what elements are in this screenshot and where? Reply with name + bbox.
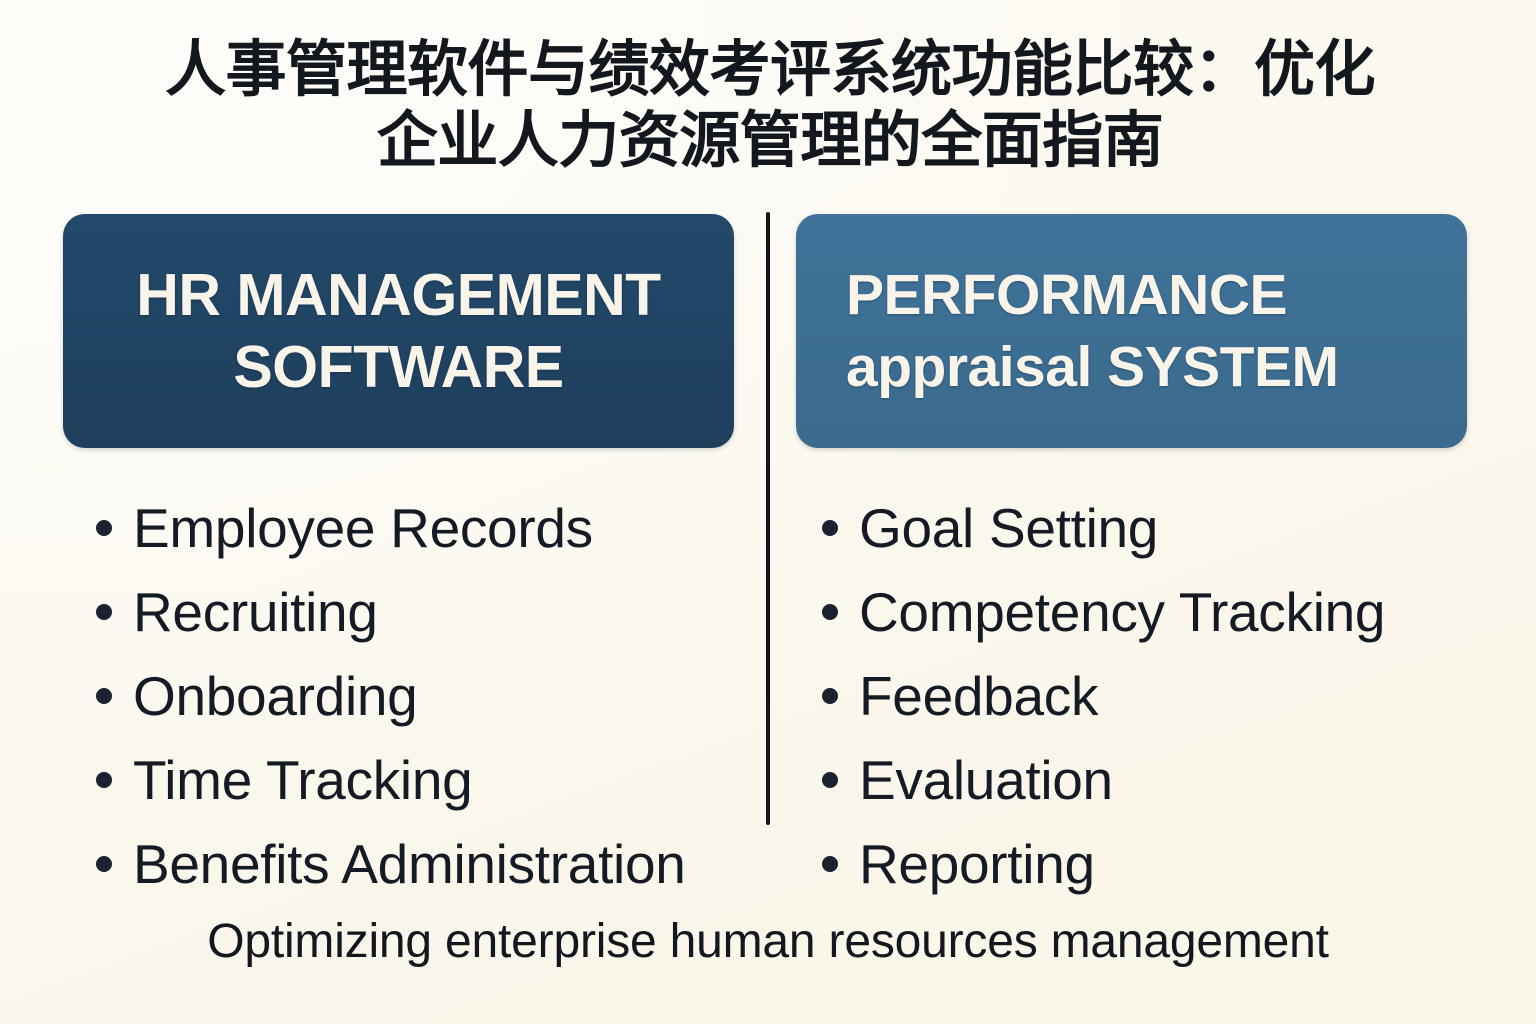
list-item: Evaluation: [822, 738, 1482, 822]
bullet-dot-icon: [96, 520, 112, 536]
list-item: Time Tracking: [96, 738, 766, 822]
right-column-header-card: PERFORMANCE appraisal SYSTEM: [796, 214, 1467, 448]
list-item-label: Feedback: [859, 666, 1098, 726]
list-item-label: Employee Records: [133, 498, 593, 558]
list-item: Benefits Administration: [96, 822, 766, 906]
left-column-header-line-1: HR MANAGEMENT: [136, 259, 660, 331]
page-title-line-1: 人事管理软件与绩效考评系统功能比较：优化: [120, 34, 1420, 105]
list-item-label: Benefits Administration: [133, 834, 686, 894]
footer-caption: Optimizing enterprise human resources ma…: [0, 912, 1536, 972]
bullet-dot-icon: [822, 772, 838, 788]
right-column-header-line-2: appraisal SYSTEM: [846, 331, 1339, 403]
bullet-dot-icon: [96, 604, 112, 620]
column-divider: [766, 212, 770, 825]
bullet-dot-icon: [96, 688, 112, 704]
left-column-header-card: HR MANAGEMENT SOFTWARE: [63, 214, 734, 448]
list-item-label: Recruiting: [133, 582, 378, 642]
bullet-dot-icon: [822, 520, 838, 536]
page-title-line-2: 企业人力资源管理的全面指南: [120, 105, 1420, 176]
list-item: Reporting: [822, 822, 1482, 906]
list-item: Employee Records: [96, 486, 766, 570]
page-title: 人事管理软件与绩效考评系统功能比较：优化 企业人力资源管理的全面指南: [120, 34, 1420, 176]
right-column-header-line-1: PERFORMANCE: [846, 259, 1287, 331]
left-feature-list: Employee Records Recruiting Onboarding T…: [96, 486, 766, 906]
comparison-infographic: 人事管理软件与绩效考评系统功能比较：优化 企业人力资源管理的全面指南 HR MA…: [0, 0, 1536, 1024]
bullet-dot-icon: [822, 604, 838, 620]
list-item-label: Evaluation: [859, 750, 1113, 810]
list-item: Competency Tracking: [822, 570, 1482, 654]
bullet-dot-icon: [96, 772, 112, 788]
list-item: Goal Setting: [822, 486, 1482, 570]
left-column-header-line-2: SOFTWARE: [233, 331, 563, 403]
bullet-dot-icon: [822, 856, 838, 872]
right-feature-list: Goal Setting Competency Tracking Feedbac…: [822, 486, 1482, 906]
list-item: Onboarding: [96, 654, 766, 738]
list-item-label: Reporting: [859, 834, 1095, 894]
list-item-label: Goal Setting: [859, 498, 1158, 558]
list-item: Feedback: [822, 654, 1482, 738]
bullet-dot-icon: [96, 856, 112, 872]
list-item-label: Time Tracking: [133, 750, 472, 810]
list-item-label: Onboarding: [133, 666, 417, 726]
list-item: Recruiting: [96, 570, 766, 654]
list-item-label: Competency Tracking: [859, 582, 1385, 642]
bullet-dot-icon: [822, 688, 838, 704]
